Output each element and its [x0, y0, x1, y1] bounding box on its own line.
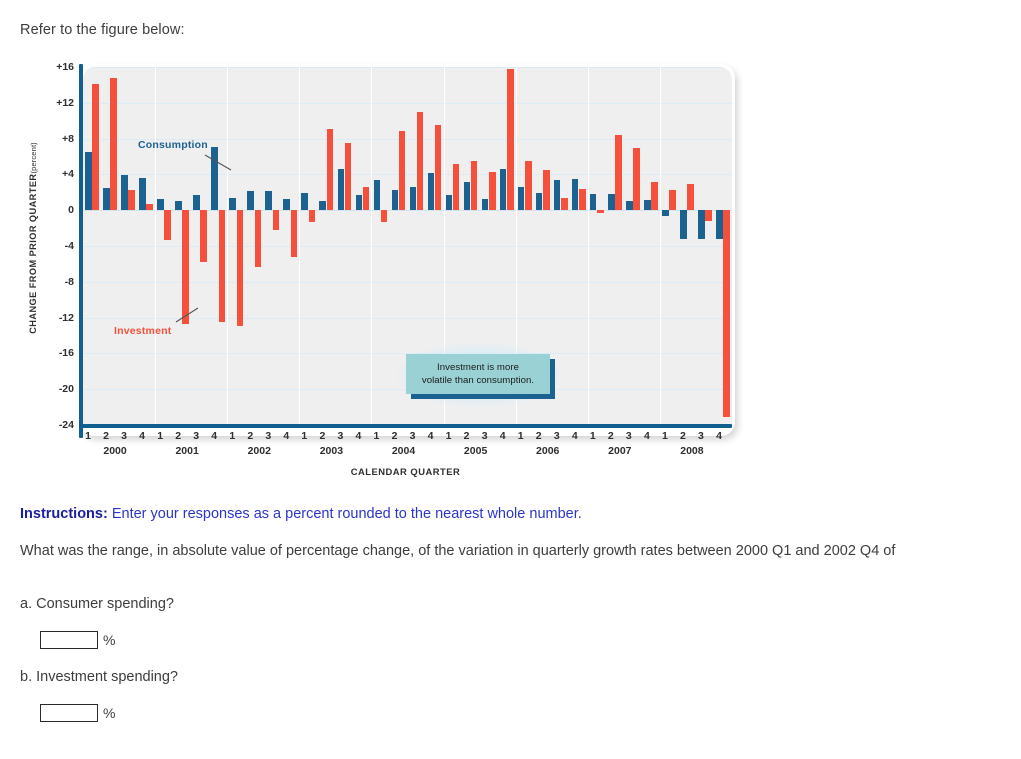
refer-to-figure-text: Refer to the figure below: [20, 22, 185, 38]
bar-consumption [698, 210, 705, 239]
x-tick-quarter: 3 [692, 430, 710, 442]
bar-investment [128, 190, 135, 211]
gridline-h [83, 246, 732, 247]
bar-investment [417, 112, 424, 210]
callout-line-1: Investment is more [437, 362, 519, 373]
bar-consumption [157, 199, 164, 211]
x-tick-quarter: 1 [367, 430, 385, 442]
instructions-label: Instructions: [20, 506, 108, 522]
bar-consumption [518, 187, 525, 210]
bar-investment [705, 210, 712, 221]
part-a-input[interactable] [40, 631, 98, 649]
x-tick-quarter: 4 [133, 430, 151, 442]
bar-investment [597, 210, 604, 213]
x-tick-year: 2004 [374, 445, 434, 457]
x-tick-quarter: 2 [169, 430, 187, 442]
x-tick-quarter: 4 [638, 430, 656, 442]
x-tick-quarter: 2 [313, 430, 331, 442]
bar-investment [255, 210, 262, 266]
bar-investment [182, 210, 189, 324]
bar-investment [543, 170, 550, 210]
bar-investment [309, 210, 316, 222]
bar-consumption [554, 180, 561, 210]
bar-investment [146, 204, 153, 210]
part-a-percent-symbol: % [103, 632, 115, 648]
bar-investment [507, 69, 514, 210]
bar-investment [327, 129, 334, 210]
y-axis-title-unit: (percent) [29, 142, 38, 173]
x-tick-quarter: 1 [151, 430, 169, 442]
x-tick-year: 2007 [590, 445, 650, 457]
gridline-v [588, 67, 589, 425]
bar-investment [219, 210, 226, 322]
investment-series-label: Investment [114, 325, 171, 337]
y-tick-label: +16 [20, 61, 74, 73]
bar-consumption [338, 169, 345, 210]
x-tick-quarter: 2 [530, 430, 548, 442]
figure-container: +16+12+8+40-4-8-12-16-20-24 CHANGE FROM … [20, 58, 740, 483]
bar-investment [291, 210, 298, 257]
bar-consumption [85, 152, 92, 210]
gridline-h [83, 67, 732, 68]
bar-consumption [211, 147, 218, 211]
x-tick-quarter: 4 [422, 430, 440, 442]
x-tick-quarter: 1 [584, 430, 602, 442]
x-tick-quarter: 1 [656, 430, 674, 442]
bar-consumption [500, 169, 507, 210]
x-tick-quarter: 1 [295, 430, 313, 442]
x-tick-quarter: 4 [494, 430, 512, 442]
x-tick-quarter: 4 [205, 430, 223, 442]
gridline-v [371, 67, 372, 425]
part-b-answer-row: % [40, 704, 115, 722]
gridline-v [299, 67, 300, 425]
gridline-v [227, 67, 228, 425]
gridline-h [83, 318, 732, 319]
part-a-label: a. Consumer spending? [20, 596, 174, 612]
bar-investment [471, 161, 478, 210]
bar-investment [110, 78, 117, 210]
gridline-h [83, 210, 732, 211]
instructions-text: Enter your responses as a percent rounde… [108, 506, 582, 522]
gridline-v [155, 67, 156, 425]
bar-consumption [247, 191, 254, 211]
bar-investment [92, 84, 99, 210]
x-tick-year: 2002 [229, 445, 289, 457]
gridline-v [660, 67, 661, 425]
bar-investment [669, 190, 676, 211]
x-tick-quarter: 4 [710, 430, 728, 442]
x-tick-quarter: 1 [223, 430, 241, 442]
bar-consumption [229, 198, 236, 211]
bar-consumption [283, 199, 290, 211]
bar-consumption [428, 173, 435, 211]
x-tick-quarter: 2 [602, 430, 620, 442]
callout-box: Investment is more volatile than consump… [406, 354, 550, 394]
x-tick-quarter: 2 [241, 430, 259, 442]
x-axis-line [79, 424, 732, 428]
bar-consumption [482, 199, 489, 211]
bar-consumption [626, 201, 633, 210]
bar-consumption [662, 210, 669, 215]
x-tick-quarter: 2 [674, 430, 692, 442]
part-b-label: b. Investment spending? [20, 669, 178, 685]
x-tick-quarter: 4 [349, 430, 367, 442]
x-tick-quarter: 3 [187, 430, 205, 442]
x-tick-quarter: 3 [115, 430, 133, 442]
x-tick-quarter: 4 [277, 430, 295, 442]
bar-consumption [121, 175, 128, 210]
x-tick-quarter: 3 [259, 430, 277, 442]
instructions-line: Instructions: Enter your responses as a … [20, 506, 582, 522]
bar-investment [579, 189, 586, 210]
bar-investment [687, 184, 694, 210]
x-tick-year: 2000 [85, 445, 145, 457]
x-tick-quarter: 3 [620, 430, 638, 442]
x-tick-year: 2003 [301, 445, 361, 457]
y-axis-title-text: CHANGE FROM PRIOR QUARTER [28, 174, 38, 334]
x-tick-quarter: 3 [476, 430, 494, 442]
x-tick-quarter: 2 [458, 430, 476, 442]
bar-investment [489, 172, 496, 210]
x-tick-quarter: 2 [97, 430, 115, 442]
x-tick-quarter: 1 [440, 430, 458, 442]
x-tick-quarter: 3 [548, 430, 566, 442]
x-tick-quarter: 4 [566, 430, 584, 442]
bar-consumption [410, 187, 417, 210]
bar-consumption [572, 179, 579, 210]
bar-investment [200, 210, 207, 262]
bar-consumption [590, 194, 597, 210]
bar-consumption [265, 191, 272, 211]
bar-investment [435, 125, 442, 210]
bar-consumption [392, 190, 399, 211]
x-tick-year: 2005 [446, 445, 506, 457]
x-tick-year: 2006 [518, 445, 578, 457]
bar-consumption [644, 200, 651, 210]
bar-consumption [193, 195, 200, 210]
x-tick-quarter: 1 [79, 430, 97, 442]
bar-investment [561, 198, 568, 211]
gridline-h [83, 282, 732, 283]
question-text: What was the range, in absolute value of… [20, 542, 980, 561]
bar-consumption [374, 180, 381, 210]
bar-investment [453, 164, 460, 211]
bar-consumption [446, 195, 453, 210]
x-tick-quarter: 3 [404, 430, 422, 442]
y-axis-line [79, 64, 83, 438]
gridline-h [83, 103, 732, 104]
bar-consumption [680, 210, 687, 239]
consumption-series-label: Consumption [138, 139, 208, 151]
x-tick-quarter: 3 [331, 430, 349, 442]
bar-investment [633, 148, 640, 211]
bar-consumption [464, 182, 471, 211]
bar-investment [525, 161, 532, 210]
part-b-input[interactable] [40, 704, 98, 722]
bar-investment [723, 210, 730, 417]
bar-investment [237, 210, 244, 325]
y-axis-title: CHANGE FROM PRIOR QUARTER(percent) [28, 73, 38, 403]
bar-consumption [175, 201, 182, 210]
bar-investment [273, 210, 280, 230]
y-tick-label: -24 [20, 419, 74, 431]
x-tick-year: 2008 [662, 445, 722, 457]
bar-consumption [716, 210, 723, 239]
x-tick-quarter: 1 [512, 430, 530, 442]
bar-consumption [319, 201, 326, 210]
x-tick-quarter: 2 [385, 430, 403, 442]
bar-consumption [356, 195, 363, 210]
bar-investment [345, 143, 352, 210]
callout-line-2: volatile than consumption. [422, 375, 534, 386]
bar-investment [615, 135, 622, 210]
x-axis-title: CALENDAR QUARTER [79, 466, 732, 477]
bar-investment [381, 210, 388, 222]
bar-consumption [139, 178, 146, 210]
bar-investment [363, 187, 370, 210]
bar-consumption [103, 188, 110, 210]
bar-investment [651, 182, 658, 211]
callout-text: Investment is more volatile than consump… [406, 354, 550, 394]
part-b-percent-symbol: % [103, 705, 115, 721]
bar-consumption [301, 193, 308, 210]
part-a-answer-row: % [40, 631, 115, 649]
bar-investment [164, 210, 171, 240]
bar-consumption [536, 193, 543, 210]
x-tick-year: 2001 [157, 445, 217, 457]
bar-consumption [608, 194, 615, 210]
bar-investment [399, 131, 406, 211]
